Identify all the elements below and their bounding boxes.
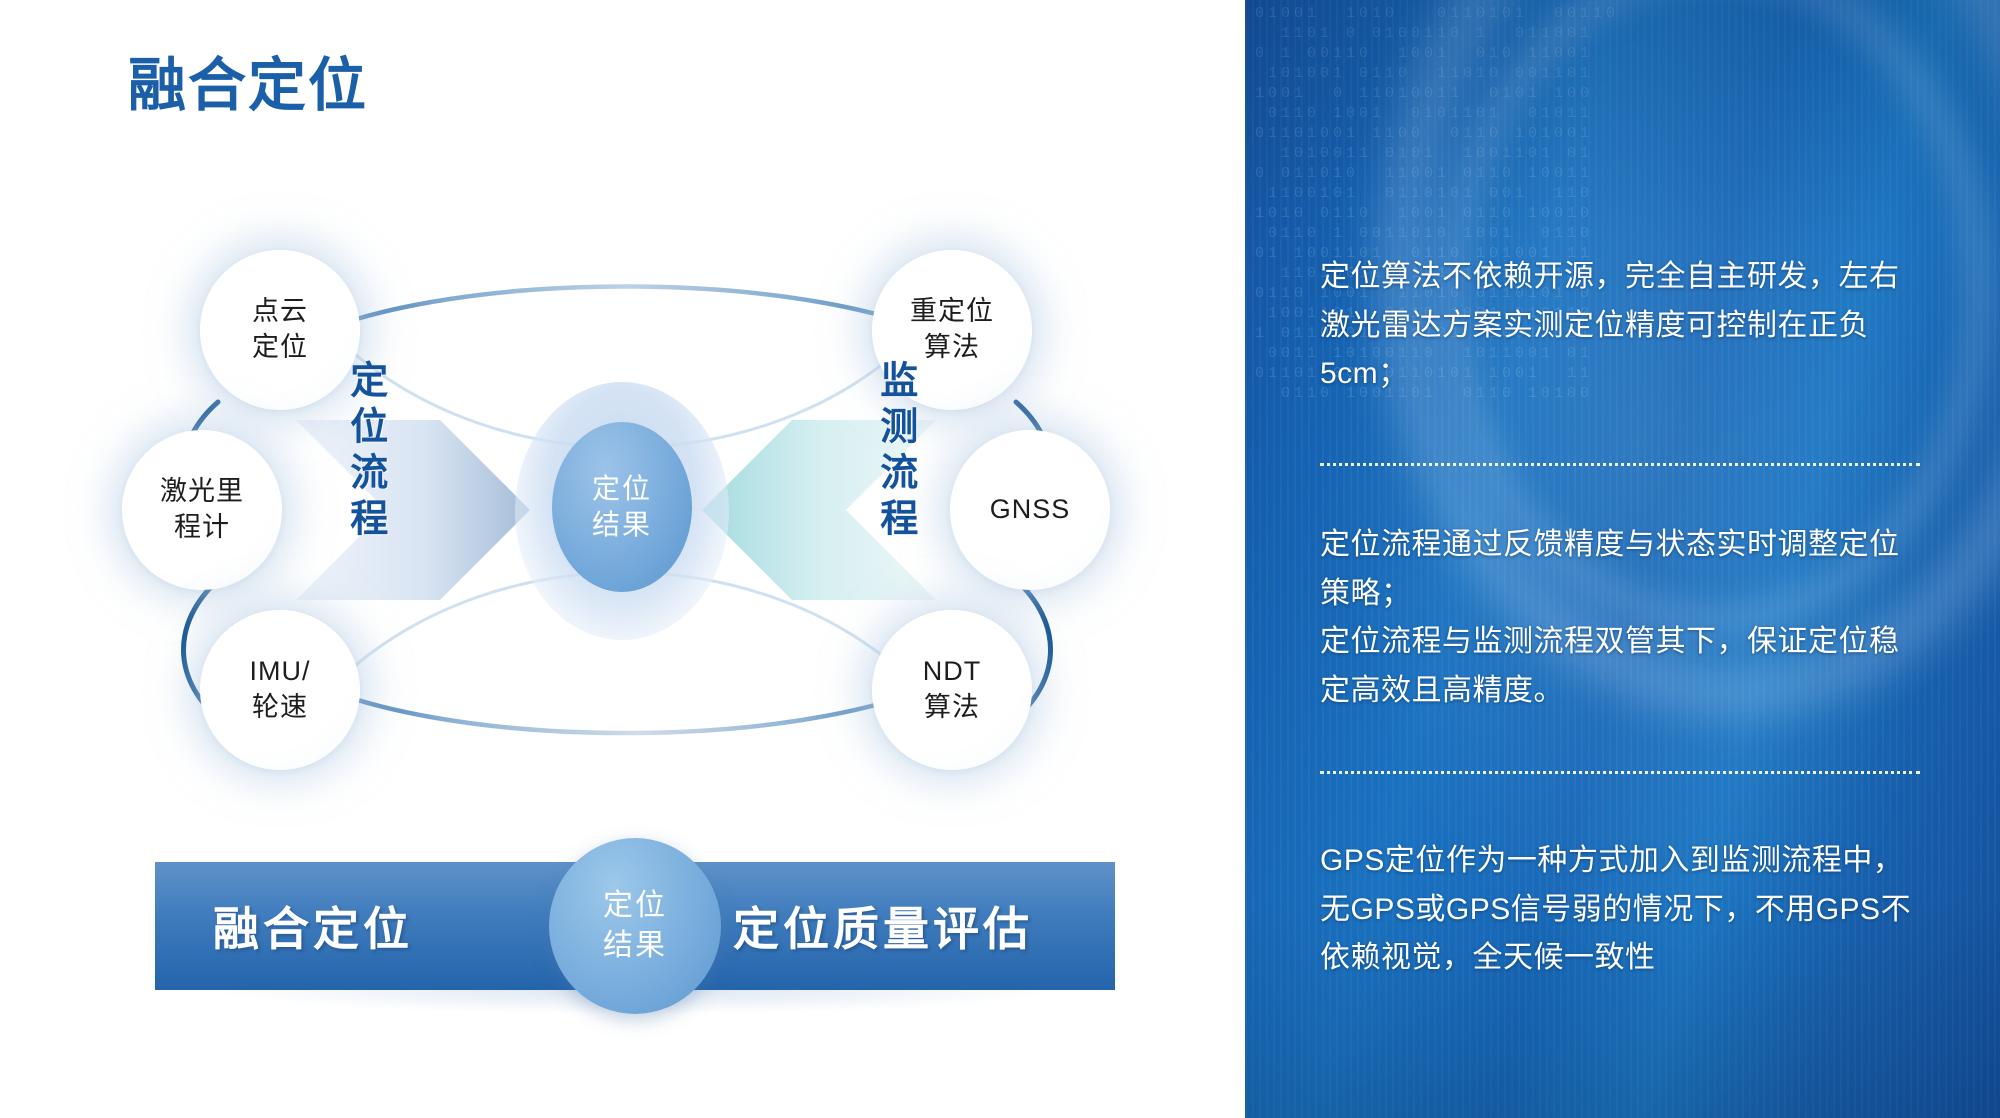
- node-gnss[interactable]: GNSS: [950, 430, 1110, 590]
- localization-flow-arrow: [296, 420, 530, 600]
- center-line-2: 结果: [592, 507, 652, 543]
- page-title: 融合定位: [128, 38, 368, 122]
- banner-oval-line1: 定位: [603, 886, 667, 926]
- slide-root: 融合定位: [0, 0, 2000, 1118]
- panel-paragraph-3: GPS定位作为一种方式加入到监测流程中，无GPS或GPS信号弱的情况下，不用GP…: [1320, 837, 1920, 983]
- center-localization-result: 定位 结果: [552, 422, 692, 592]
- node-imu-wheel-speed[interactable]: IMU/ 轮速: [200, 610, 360, 770]
- node-label-line1: 重定位: [910, 294, 994, 330]
- node-label-line2: 轮速: [250, 690, 311, 726]
- center-line-1: 定位: [592, 471, 652, 507]
- panel-paragraph-1: 定位算法不依赖开源，完全自主研发，左右激光雷达方案实测定位精度可控制在正负5cm…: [1320, 253, 1920, 399]
- node-label-line1: 点云: [252, 294, 308, 330]
- monitoring-flow-label: 监测流程: [875, 360, 914, 544]
- panel-divider-1: [1320, 463, 1920, 466]
- node-label-line1: NDT: [923, 654, 982, 690]
- curve-top-left-to-right: [285, 287, 966, 349]
- curve-bottom-left-to-right: [285, 670, 966, 733]
- node-label-line2: 定位: [252, 330, 308, 366]
- node-label-line1: GNSS: [990, 492, 1071, 528]
- fusion-localization-diagram: 定位 结果 定位流程 监测流程 点云 定位 激光里 程计: [100, 230, 1160, 880]
- node-label-line1: IMU/: [250, 654, 311, 690]
- panel-paragraph-2: 定位流程通过反馈精度与状态实时调整定位策略； 定位流程与监测流程双管其下，保证定…: [1320, 521, 1920, 715]
- node-lidar-odometry[interactable]: 激光里 程计: [122, 430, 282, 590]
- right-description-panel: 01001 1010 0110101 00110 1101 0 0100110 …: [1245, 0, 2000, 1118]
- localization-flow-label: 定位流程: [345, 360, 384, 544]
- node-label-line2: 算法: [923, 690, 982, 726]
- banner-oval-line2: 结果: [603, 926, 667, 966]
- node-label-line2: 算法: [910, 330, 994, 366]
- panel-content: 定位算法不依赖开源，完全自主研发，左右激光雷达方案实测定位精度可控制在正负5cm…: [1245, 0, 2000, 1118]
- node-ndt-algorithm[interactable]: NDT 算法: [872, 610, 1032, 770]
- node-point-cloud-localization[interactable]: 点云 定位: [200, 250, 360, 410]
- banner-localization-result-oval[interactable]: 定位 结果: [549, 838, 721, 1014]
- left-content-area: 融合定位: [0, 0, 1245, 1118]
- bottom-banner: 融合定位 定位质量评估 定位 结果: [155, 862, 1115, 990]
- node-label-line1: 激光里: [160, 474, 244, 510]
- panel-divider-2: [1320, 771, 1920, 774]
- node-label-line2: 程计: [160, 510, 244, 546]
